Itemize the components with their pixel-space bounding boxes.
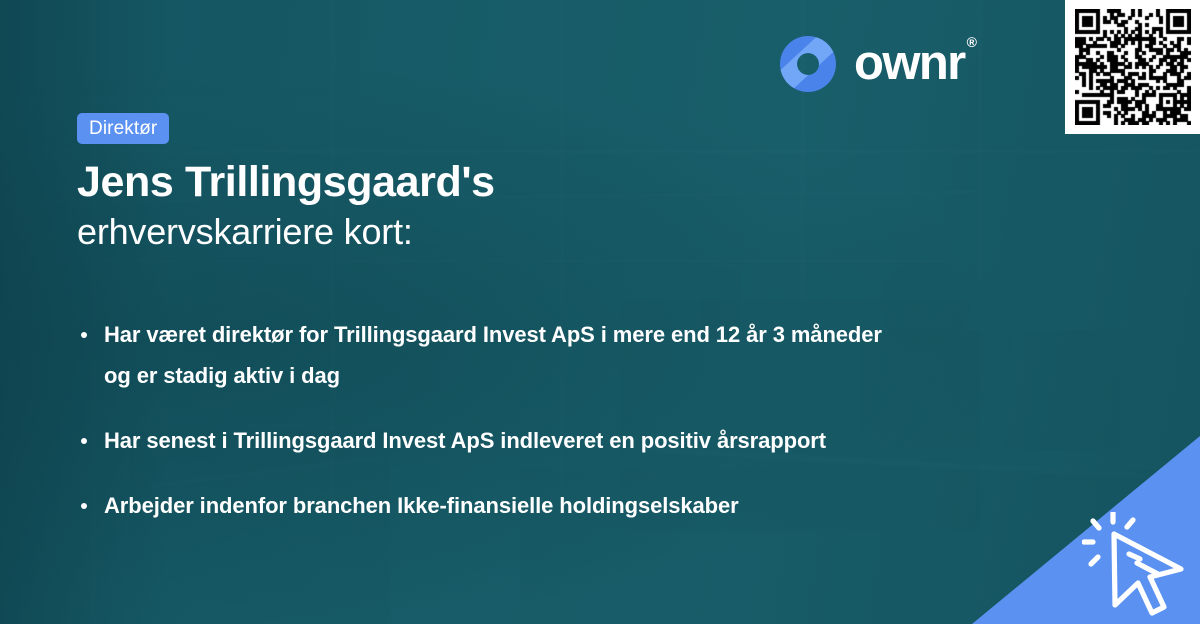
career-summary-list: Har været direktør for Trillingsgaard In…	[76, 314, 906, 526]
list-item-label: Har været direktør for Trillingsgaard In…	[104, 314, 906, 396]
qr-code-canvas	[1075, 9, 1191, 125]
role-badge: Direktør	[77, 113, 169, 144]
bullet-dot-icon	[81, 438, 87, 444]
list-item: Har senest i Trillingsgaard Invest ApS i…	[76, 420, 906, 461]
cursor-click-icon	[1082, 512, 1190, 616]
ownr-logo[interactable]: ownr ®	[780, 36, 975, 92]
list-item-label: Arbejder indenfor branchen Ikke-finansie…	[104, 485, 906, 526]
list-item: Arbejder indenfor branchen Ikke-finansie…	[76, 485, 906, 526]
page-title-line-2: erhvervskarriere kort:	[77, 208, 837, 256]
career-card: Direktør Jens Trillingsgaard's erhvervsk…	[0, 0, 1200, 624]
registered-trademark-icon: ®	[967, 34, 977, 50]
bullet-dot-icon	[81, 503, 87, 509]
page-title: Jens Trillingsgaard's erhvervskarriere k…	[77, 156, 837, 256]
ownr-wordmark: ownr	[854, 39, 965, 88]
page-title-line-1: Jens Trillingsgaard's	[77, 156, 837, 208]
list-item-label: Har senest i Trillingsgaard Invest ApS i…	[104, 420, 906, 461]
list-item: Har været direktør for Trillingsgaard In…	[76, 314, 906, 396]
corner-wedge	[0, 0, 1200, 624]
ownr-circle-swoosh-icon	[780, 36, 836, 92]
qr-code[interactable]	[1065, 0, 1200, 134]
bullet-dot-icon	[81, 332, 87, 338]
